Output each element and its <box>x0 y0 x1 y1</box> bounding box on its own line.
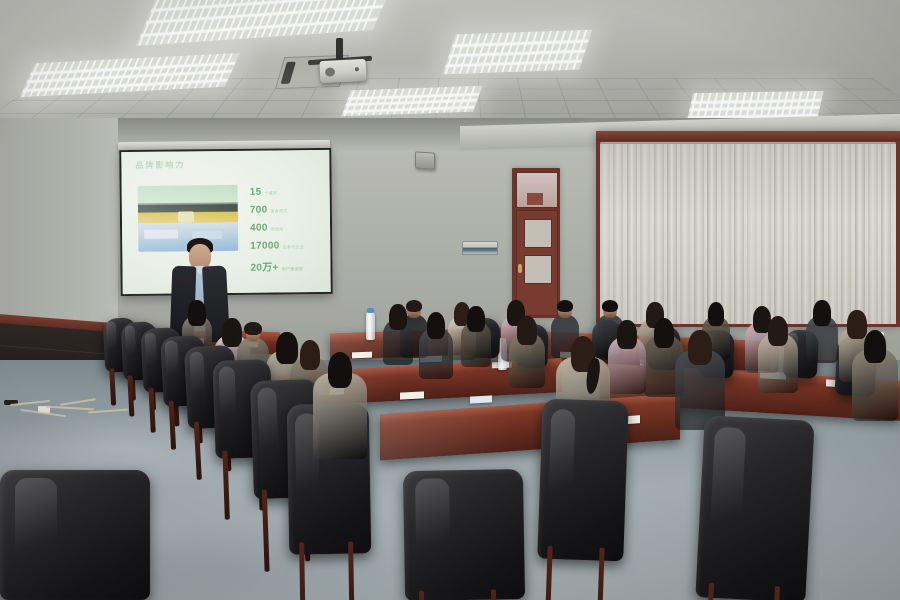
attendee-hair <box>602 300 618 312</box>
curtain-pleat <box>841 144 851 324</box>
curtain-pleat <box>761 144 771 324</box>
projector-lens-icon <box>325 67 335 77</box>
ceiling-projector <box>319 59 366 83</box>
chair-highlight <box>165 341 180 391</box>
curtain-pleat <box>721 144 731 324</box>
floor-cable <box>60 398 96 406</box>
attendee-hair <box>389 304 406 330</box>
chair-highlight <box>218 366 237 435</box>
door-handle-icon[interactable] <box>518 264 522 273</box>
curtain-pleat <box>828 144 838 324</box>
curtain-pleat <box>613 144 623 324</box>
attendee-hair <box>517 316 536 345</box>
attendee <box>758 316 798 396</box>
chair-backrest <box>695 415 814 600</box>
attendee-hair <box>557 300 573 312</box>
executive-chair <box>0 470 150 600</box>
ceiling-light-panel <box>443 30 593 75</box>
attendee <box>419 312 453 382</box>
attendee-hair <box>427 312 445 339</box>
ceiling-light-panel <box>136 0 394 46</box>
curtain-pleat <box>707 144 717 324</box>
wooden-door[interactable] <box>512 168 560 318</box>
executive-chair <box>403 469 525 600</box>
chair-highlight <box>257 387 279 470</box>
floor-cable <box>46 406 94 411</box>
floor-cable <box>88 409 128 414</box>
curtain-pleat <box>734 144 744 324</box>
executive-chair <box>695 415 814 600</box>
chair-highlight <box>709 427 746 556</box>
chair-highlight <box>415 478 450 570</box>
window-curtains[interactable] <box>600 144 896 324</box>
projector-indicator-icon <box>355 67 359 71</box>
attendee-hair <box>864 330 886 363</box>
conference-room-photo: 品牌影响力 15个城市700家合作方400场活动17000名参与企业20万+用户… <box>0 0 900 600</box>
chair-highlight <box>124 326 136 367</box>
curtain-pleat <box>680 144 690 324</box>
curtain-pleat <box>747 144 757 324</box>
chair-highlight <box>145 332 159 377</box>
curtain-pleat <box>640 144 650 324</box>
wall-speaker-icon <box>415 151 435 169</box>
attendee <box>383 304 413 367</box>
water-bottle <box>366 312 375 340</box>
notebook <box>470 395 492 403</box>
door-glass-pane <box>524 255 552 284</box>
curtain-pleat <box>855 144 865 324</box>
ceiling-light-panel <box>341 86 482 117</box>
attendee <box>461 306 491 369</box>
attendee <box>608 320 646 397</box>
attendee-hair <box>688 330 711 365</box>
attendee-hair <box>708 302 724 326</box>
wall-air-conditioner <box>462 241 498 255</box>
chair-backrest <box>537 399 629 562</box>
chair-highlight <box>106 321 117 359</box>
curtain-pleat <box>881 144 891 324</box>
curtain-pleat <box>667 144 677 324</box>
executive-chair <box>537 399 629 562</box>
chair-highlight <box>547 408 575 521</box>
attendee-hair <box>813 300 830 326</box>
bottle-cap-icon <box>367 308 374 313</box>
chair-highlight <box>15 478 57 569</box>
attendee <box>852 330 898 424</box>
curtain-pleat <box>868 144 878 324</box>
door-transom-window <box>516 172 558 208</box>
chair-highlight <box>189 351 206 409</box>
attendee-hair <box>328 352 352 388</box>
projector-mount-pole <box>336 38 343 60</box>
curtain-pleat <box>788 144 798 324</box>
curtained-window <box>596 131 900 327</box>
door-glass-pane <box>524 219 552 248</box>
curtain-pleat <box>627 144 637 324</box>
curtain-pleat <box>600 144 610 324</box>
curtain-pleat <box>774 144 784 324</box>
handout-paper <box>400 391 424 399</box>
attendee-hair <box>654 318 674 348</box>
curtain-pleat <box>694 144 704 324</box>
curtain-pleat <box>801 144 811 324</box>
chair-backrest <box>403 469 525 600</box>
attendee <box>806 300 838 365</box>
attendee-hair <box>188 300 205 326</box>
chair-backrest <box>0 470 150 600</box>
attendee-hair <box>617 320 636 349</box>
attendee-hair <box>768 316 788 346</box>
transom-object <box>527 193 543 205</box>
attendee <box>509 316 545 391</box>
attendee-hair <box>244 322 261 335</box>
attendee-hair <box>467 306 484 332</box>
window-valance <box>596 131 900 141</box>
attendee <box>313 352 367 462</box>
curtain-pleat <box>814 144 824 324</box>
curtain-pleat <box>654 144 664 324</box>
